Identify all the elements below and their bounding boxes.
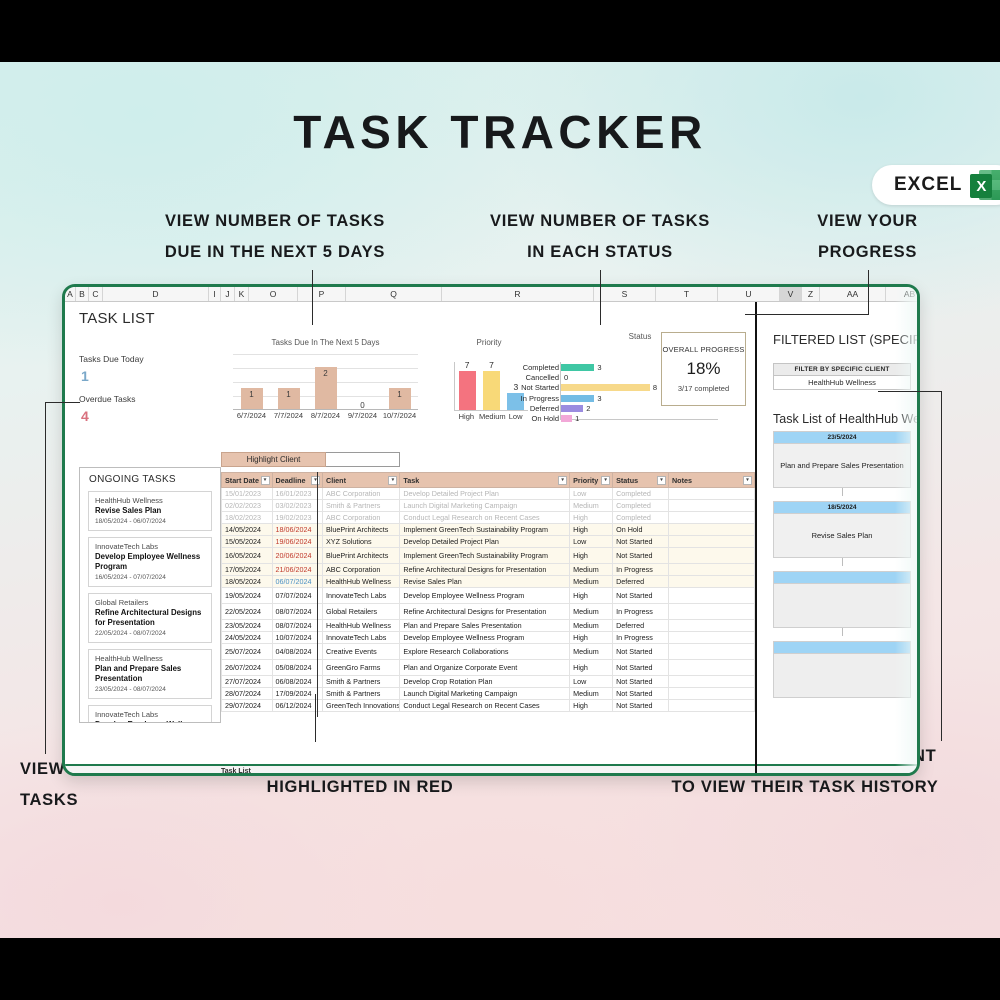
cell-priority[interactable]: Low: [570, 536, 613, 548]
leader-line-due: [312, 270, 313, 325]
excel-badge: EXCEL X: [872, 165, 1000, 205]
client-filter-label: FILTER BY SPECIFIC CLIENT: [773, 363, 911, 376]
cell-priority[interactable]: Low: [570, 676, 613, 688]
due-chart-bar: 2: [315, 367, 337, 410]
cell-client[interactable]: HealthHub Wellness: [323, 620, 400, 632]
cell-priority[interactable]: Medium: [570, 576, 613, 588]
status-bar: [561, 395, 594, 402]
due-chart-xlabel: 8/7/2024: [307, 411, 344, 424]
status-bar-value: 1: [575, 414, 579, 423]
table-row[interactable]: 16/05/202420/06/2024BluePrint Architects…: [222, 548, 755, 564]
cell-task[interactable]: Conduct Legal Research on Recent Cases: [400, 700, 570, 712]
priority-chart-title: Priority: [450, 338, 528, 347]
cell-priority[interactable]: High: [570, 524, 613, 536]
task-table-body: 15/01/202316/01/2023ABC CorporationDevel…: [222, 488, 755, 712]
overdue-tasks-value: 4: [81, 408, 89, 424]
due-chart-bar-value: 1: [241, 390, 263, 399]
tasks-due-today-label: Tasks Due Today: [79, 354, 144, 364]
cell-status[interactable]: Completed: [613, 512, 669, 524]
cell-priority[interactable]: High: [570, 660, 613, 676]
ongoing-task-client: HealthHub Wellness: [95, 496, 205, 505]
cell-status[interactable]: In Progress: [613, 604, 669, 620]
priority-xlabel: Medium: [479, 412, 503, 424]
filter-dropdown-icon[interactable]: ▾: [261, 476, 270, 485]
leader-line-progress-h: [745, 314, 869, 315]
table-row[interactable]: 15/05/202419/06/2024XYZ SolutionsDevelop…: [222, 536, 755, 548]
table-row[interactable]: 15/01/202316/01/2023ABC CorporationDevel…: [222, 488, 755, 500]
timeline-task: Plan and Prepare Sales Presentation: [773, 444, 911, 488]
column-header-Q[interactable]: Q: [346, 287, 442, 301]
column-header-V[interactable]: V: [780, 287, 802, 301]
cell-task[interactable]: Revise Sales Plan: [400, 576, 570, 588]
column-header-O[interactable]: O: [249, 287, 298, 301]
status-bar: [561, 405, 583, 412]
cell-client[interactable]: BluePrint Architects: [323, 548, 400, 564]
cell-deadline[interactable]: 19/06/2024: [272, 536, 323, 548]
table-row[interactable]: 19/05/202407/07/2024InnovateTech LabsDev…: [222, 588, 755, 604]
cell-client[interactable]: HealthHub Wellness: [323, 576, 400, 588]
timeline-task: [773, 654, 911, 698]
column-header-S[interactable]: S: [594, 287, 656, 301]
status-label: Deferred: [513, 404, 559, 413]
cell-notes[interactable]: [668, 524, 754, 536]
ongoing-task-card[interactable]: Global RetailersRefine Architectural Des…: [88, 593, 212, 643]
column-header-B[interactable]: B: [76, 287, 89, 301]
cell-task[interactable]: Implement GreenTech Sustainability Progr…: [400, 548, 570, 564]
timeline-card: [773, 571, 911, 628]
cell-notes[interactable]: [668, 620, 754, 632]
status-label: Cancelled: [513, 373, 559, 382]
column-freeze-line: [317, 472, 318, 717]
leader-line-ongoing-v: [45, 402, 46, 754]
cell-priority[interactable]: Medium: [570, 500, 613, 512]
table-row[interactable]: 02/02/202303/02/2023Smith & PartnersLaun…: [222, 500, 755, 512]
column-header-P[interactable]: P: [298, 287, 346, 301]
status-bar-value: 3: [597, 394, 601, 403]
ongoing-tasks-panel[interactable]: ONGOING TASKS HealthHub WellnessRevise S…: [79, 467, 221, 723]
cell-deadline[interactable]: 03/02/2023: [272, 500, 323, 512]
cell-deadline[interactable]: 20/06/2024: [272, 548, 323, 564]
cell-deadline[interactable]: 08/07/2024: [272, 604, 323, 620]
cell-priority[interactable]: High: [570, 632, 613, 644]
ongoing-task-client: Global Retailers: [95, 598, 205, 607]
due-chart-bars: 11201: [233, 352, 418, 410]
cell-status[interactable]: Completed: [613, 488, 669, 500]
cell-task[interactable]: Implement GreenTech Sustainability Progr…: [400, 524, 570, 536]
cell-task[interactable]: Refine Architectural Designs for Present…: [400, 564, 570, 576]
cell-task[interactable]: Launch Digital Marketing Campaign: [400, 500, 570, 512]
ongoing-task-name: Revise Sales Plan: [95, 506, 205, 516]
cell-deadline[interactable]: 19/02/2023: [272, 512, 323, 524]
due-chart-bar: 1: [278, 388, 300, 410]
ongoing-task-dates: 16/05/2024 - 07/07/2024: [95, 574, 205, 581]
priority-bar: 7: [483, 371, 500, 410]
table-row[interactable]: 18/02/202319/02/2023ABC CorporationCondu…: [222, 512, 755, 524]
cell-notes[interactable]: [668, 644, 754, 660]
column-header-AB[interactable]: AB: [886, 287, 920, 301]
client-filter-control[interactable]: FILTER BY SPECIFIC CLIENT HealthHub Well…: [773, 363, 911, 390]
table-row[interactable]: 24/05/202410/07/2024InnovateTech LabsDev…: [222, 632, 755, 644]
timeline-task: Revise Sales Plan: [773, 514, 911, 558]
cell-start-date[interactable]: 18/05/2024: [222, 576, 273, 588]
excel-logo-icon: X: [970, 168, 1000, 202]
priority-xlabel: High: [454, 412, 478, 424]
header-text: Priority: [573, 476, 598, 485]
due-chart-bar-value: 1: [278, 390, 300, 399]
column-header-AA[interactable]: AA: [820, 287, 886, 301]
ongoing-task-name: Refine Architectural Designs for Present…: [95, 608, 205, 628]
overall-progress-percent: 18%: [686, 359, 720, 379]
cell-priority[interactable]: Medium: [570, 688, 613, 700]
cell-client[interactable]: InnovateTech Labs: [323, 588, 400, 604]
cell-status[interactable]: Not Started: [613, 644, 669, 660]
cell-status[interactable]: Deferred: [613, 620, 669, 632]
due-chart-bar: 1: [389, 388, 411, 410]
cell-task[interactable]: Develop Detailed Project Plan: [400, 536, 570, 548]
cell-start-date[interactable]: 19/05/2024: [222, 588, 273, 604]
timeline-date: 18/5/2024: [773, 501, 911, 514]
header-text: Deadline: [276, 476, 306, 485]
ongoing-task-client: InnovateTech Labs: [95, 710, 205, 719]
task-table-header-deadline[interactable]: Deadline▾: [272, 473, 323, 488]
callout-status-count: VIEW NUMBER OF TASKS IN EACH STATUS: [415, 206, 785, 268]
table-row[interactable]: 28/07/202417/09/2024Smith & PartnersLaun…: [222, 688, 755, 700]
ongoing-task-dates: 23/05/2024 - 08/07/2024: [95, 686, 205, 693]
sheet-heading: TASK LIST: [79, 310, 155, 327]
tasks-due-bar-chart: 11201 6/7/20247/7/20248/7/20249/7/202410…: [233, 352, 418, 424]
column-header-U[interactable]: U: [718, 287, 780, 301]
task-table-header-notes[interactable]: Notes▾: [668, 473, 754, 488]
cell-task[interactable]: Launch Digital Marketing Campaign: [400, 688, 570, 700]
letterbox-top: [0, 0, 1000, 62]
cell-deadline[interactable]: 05/08/2024: [272, 660, 323, 676]
sheet-tab-bar[interactable]: Task List: [65, 764, 917, 776]
cell-task[interactable]: Explore Research Collaborations: [400, 644, 570, 660]
priority-bar-value: 7: [459, 360, 476, 370]
cell-priority[interactable]: Medium: [570, 604, 613, 620]
cell-task[interactable]: Develop Crop Rotation Plan: [400, 676, 570, 688]
table-row[interactable]: 25/07/202404/08/2024Creative EventsExplo…: [222, 644, 755, 660]
status-label: Completed: [513, 363, 559, 372]
cell-client[interactable]: Smith & Partners: [323, 688, 400, 700]
cell-start-date[interactable]: 18/02/2023: [222, 512, 273, 524]
callout-tasks-due: VIEW NUMBER OF TASKS DUE IN THE NEXT 5 D…: [100, 206, 450, 268]
cell-notes[interactable]: [668, 632, 754, 644]
cell-start-date[interactable]: 16/05/2024: [222, 548, 273, 564]
cell-deadline[interactable]: 08/07/2024: [272, 620, 323, 632]
status-bar-value: 2: [586, 404, 590, 413]
timeline-connector: [842, 488, 843, 496]
cell-task[interactable]: Develop Employee Wellness Program: [400, 632, 570, 644]
ongoing-task-dates: 22/05/2024 - 08/07/2024: [95, 630, 205, 637]
cell-start-date[interactable]: 14/05/2024: [222, 524, 273, 536]
table-row[interactable]: 22/05/202408/07/2024Global RetailersRefi…: [222, 604, 755, 620]
letterbox-bottom: [0, 938, 1000, 1000]
cell-notes[interactable]: [668, 536, 754, 548]
cell-start-date[interactable]: 22/05/2024: [222, 604, 273, 620]
cell-start-date[interactable]: 29/07/2024: [222, 700, 273, 712]
cell-priority[interactable]: High: [570, 512, 613, 524]
cell-status[interactable]: Deferred: [613, 576, 669, 588]
column-header-C[interactable]: C: [89, 287, 103, 301]
due-chart-xlabel: 6/7/2024: [233, 411, 270, 424]
table-row[interactable]: 17/05/202421/06/2024ABC CorporationRefin…: [222, 564, 755, 576]
due-chart-xlabel: 10/7/2024: [381, 411, 418, 424]
cell-deadline[interactable]: 16/01/2023: [272, 488, 323, 500]
header-text: Task: [403, 476, 419, 485]
cell-status[interactable]: In Progress: [613, 632, 669, 644]
callout-progress: VIEW YOUR PROGRESS: [735, 206, 1000, 268]
ongoing-tasks-title: ONGOING TASKS: [80, 468, 220, 491]
cell-priority[interactable]: Low: [570, 488, 613, 500]
table-row[interactable]: 18/05/202406/07/2024HealthHub WellnessRe…: [222, 576, 755, 588]
table-row[interactable]: 14/05/202418/06/2024BluePrint Architects…: [222, 524, 755, 536]
overall-progress-sub: 3/17 completed: [678, 384, 729, 393]
cell-task[interactable]: Develop Detailed Project Plan: [400, 488, 570, 500]
due-chart-xlabel: 7/7/2024: [270, 411, 307, 424]
timeline-card: [773, 641, 911, 698]
priority-bar: 7: [459, 371, 476, 410]
cell-task[interactable]: Conduct Legal Research on Recent Cases: [400, 512, 570, 524]
spreadsheet-canvas[interactable]: TASK LIST Tasks Due Today 1 Overdue Task…: [65, 302, 917, 776]
overdue-tasks-label: Overdue Tasks: [79, 394, 136, 404]
status-label: On Hold: [513, 414, 559, 423]
table-row[interactable]: 23/05/202408/07/2024HealthHub WellnessPl…: [222, 620, 755, 632]
column-header-J[interactable]: J: [221, 287, 235, 301]
task-table-header-start-date[interactable]: Start Date▾: [222, 473, 273, 488]
ongoing-task-card[interactable]: HealthHub WellnessPlan and Prepare Sales…: [88, 649, 212, 699]
cell-start-date[interactable]: 02/02/2023: [222, 500, 273, 512]
cell-client[interactable]: GreenTech Innovations: [323, 700, 400, 712]
column-header-I[interactable]: I: [209, 287, 221, 301]
filter-dropdown-icon[interactable]: ▾: [743, 476, 752, 485]
cell-status[interactable]: Not Started: [613, 688, 669, 700]
status-bar-value: 8: [653, 383, 657, 392]
leader-line-progress: [868, 270, 869, 315]
cell-priority[interactable]: Medium: [570, 564, 613, 576]
status-label: Not Started: [513, 383, 559, 392]
cell-notes[interactable]: [668, 700, 754, 712]
cell-deadline[interactable]: 18/06/2024: [272, 524, 323, 536]
cell-start-date[interactable]: 27/07/2024: [222, 676, 273, 688]
excel-badge-label: EXCEL: [894, 174, 962, 196]
cell-notes[interactable]: [668, 564, 754, 576]
status-bar-value: 0: [564, 373, 568, 382]
status-bar: [561, 384, 650, 391]
timeline-task: [773, 584, 911, 628]
cell-client[interactable]: ABC Corporation: [323, 488, 400, 500]
tasks-due-today-value: 1: [81, 368, 89, 384]
cell-start-date[interactable]: 23/05/2024: [222, 620, 273, 632]
ongoing-task-name: Develop Employee Wellness: [95, 720, 205, 723]
status-bar: [561, 364, 594, 371]
cell-status[interactable]: In Progress: [613, 564, 669, 576]
cell-deadline[interactable]: 07/07/2024: [272, 588, 323, 604]
excel-logo-letter: X: [970, 174, 992, 198]
column-header-D[interactable]: D: [103, 287, 209, 301]
header-text: Client: [326, 476, 346, 485]
cell-status[interactable]: Completed: [613, 500, 669, 512]
column-header-A[interactable]: A: [65, 287, 76, 301]
due-chart-xlabel: 9/7/2024: [344, 411, 381, 424]
cell-start-date[interactable]: 24/05/2024: [222, 632, 273, 644]
timeline-card: 23/5/2024Plan and Prepare Sales Presenta…: [773, 431, 911, 488]
leader-line-status: [600, 270, 601, 325]
priority-bar-value: 7: [483, 360, 500, 370]
cell-deadline[interactable]: 04/08/2024: [272, 644, 323, 660]
filter-dropdown-icon[interactable]: ▾: [601, 476, 610, 485]
cell-start-date[interactable]: 25/07/2024: [222, 644, 273, 660]
due-chart-title: Tasks Due In The Next 5 Days: [233, 338, 418, 347]
cell-start-date[interactable]: 15/05/2024: [222, 536, 273, 548]
due-chart-bar: 1: [241, 388, 263, 410]
cell-task[interactable]: Refine Architectural Designs for Present…: [400, 604, 570, 620]
ongoing-task-dates: 18/05/2024 - 06/07/2024: [95, 518, 205, 525]
ongoing-tasks-list[interactable]: HealthHub WellnessRevise Sales Plan18/05…: [80, 491, 220, 723]
cell-client[interactable]: ABC Corporation: [323, 512, 400, 524]
leader-line-overdue: [315, 694, 316, 742]
leader-line-filter-v: [941, 391, 942, 741]
timeline-date: [773, 571, 911, 584]
cell-notes[interactable]: [668, 548, 754, 564]
table-row[interactable]: 29/07/202406/12/2024GreenTech Innovation…: [222, 700, 755, 712]
cell-priority[interactable]: High: [570, 548, 613, 564]
table-row[interactable]: 26/07/202405/08/2024GreenGro FarmsPlan a…: [222, 660, 755, 676]
header-text: Status: [616, 476, 638, 485]
timeline-connector: [842, 628, 843, 636]
timeline-date: [773, 641, 911, 654]
cell-priority[interactable]: High: [570, 588, 613, 604]
column-header-row[interactable]: ABCDIJKOPQRSTUVZAAABAC: [65, 287, 917, 302]
task-table-header-status[interactable]: Status▾: [613, 473, 669, 488]
cell-status[interactable]: Not Started: [613, 676, 669, 688]
column-header-K[interactable]: K: [235, 287, 249, 301]
status-bar-value: 3: [597, 363, 601, 372]
cell-notes[interactable]: [668, 488, 754, 500]
cell-notes[interactable]: [668, 660, 754, 676]
ongoing-task-name: Develop Employee Wellness Program: [95, 552, 205, 572]
cell-client[interactable]: BluePrint Architects: [323, 524, 400, 536]
cell-client[interactable]: Smith & Partners: [323, 676, 400, 688]
cell-task[interactable]: Develop Employee Wellness Program: [400, 588, 570, 604]
filter-dropdown-icon[interactable]: ▾: [388, 476, 397, 485]
cell-notes[interactable]: [668, 500, 754, 512]
cell-task[interactable]: Plan and Organize Corporate Event: [400, 660, 570, 676]
cell-start-date[interactable]: 15/01/2023: [222, 488, 273, 500]
cell-deadline[interactable]: 10/07/2024: [272, 632, 323, 644]
cell-priority[interactable]: Medium: [570, 644, 613, 660]
cell-status[interactable]: Not Started: [613, 588, 669, 604]
cell-client[interactable]: GreenGro Farms: [323, 660, 400, 676]
task-table-header-priority[interactable]: Priority▾: [570, 473, 613, 488]
task-table-header-client[interactable]: Client▾: [323, 473, 400, 488]
status-bar: [561, 415, 572, 422]
cell-deadline[interactable]: 06/08/2024: [272, 676, 323, 688]
client-timeline-list: 23/5/2024Plan and Prepare Sales Presenta…: [773, 431, 920, 698]
cell-status[interactable]: Not Started: [613, 536, 669, 548]
cell-task[interactable]: Plan and Prepare Sales Presentation: [400, 620, 570, 632]
cell-notes[interactable]: [668, 604, 754, 620]
filter-dropdown-icon[interactable]: ▾: [657, 476, 666, 485]
leader-line-filter-h: [878, 391, 942, 392]
leader-line-ongoing-h: [45, 402, 80, 403]
table-row[interactable]: 27/07/202406/08/2024Smith & PartnersDeve…: [222, 676, 755, 688]
cell-client[interactable]: Creative Events: [323, 644, 400, 660]
task-table[interactable]: Start Date▾Deadline▾Client▾Task▾Priority…: [221, 472, 755, 712]
cell-status[interactable]: On Hold: [613, 524, 669, 536]
header-text: Start Date: [225, 476, 259, 485]
cell-priority[interactable]: High: [570, 700, 613, 712]
filter-dropdown-icon[interactable]: ▾: [311, 476, 320, 485]
column-header-T[interactable]: T: [656, 287, 718, 301]
cell-notes[interactable]: [668, 676, 754, 688]
cell-client[interactable]: ABC Corporation: [323, 564, 400, 576]
ongoing-task-client: InnovateTech Labs: [95, 542, 205, 551]
cell-deadline[interactable]: 21/06/2024: [272, 564, 323, 576]
cell-start-date[interactable]: 28/07/2024: [222, 688, 273, 700]
client-filter-value[interactable]: HealthHub Wellness: [773, 376, 911, 390]
cell-status[interactable]: Not Started: [613, 548, 669, 564]
timeline-connector: [842, 558, 843, 566]
highlight-client-control[interactable]: Highlight Client: [221, 452, 400, 467]
highlight-client-label: Highlight Client: [221, 452, 326, 467]
due-chart-xlabels: 6/7/20247/7/20248/7/20249/7/202410/7/202…: [233, 411, 418, 424]
overall-progress-title: OVERALL PROGRESS: [662, 345, 744, 354]
ongoing-task-card[interactable]: InnovateTech LabsDevelop Employee Wellne…: [88, 705, 212, 723]
filter-dropdown-icon[interactable]: ▾: [558, 476, 567, 485]
filtered-list-title: FILTERED LIST (SPECIFIC: [773, 332, 920, 347]
header-text: Notes: [672, 476, 692, 485]
cell-client[interactable]: XYZ Solutions: [323, 536, 400, 548]
frozen-pane-split: [755, 302, 757, 776]
timeline-date: 23/5/2024: [773, 431, 911, 444]
column-header-R[interactable]: R: [442, 287, 594, 301]
cell-status[interactable]: Not Started: [613, 660, 669, 676]
spreadsheet-window[interactable]: ABCDIJKOPQRSTUVZAAABAC TASK LIST Tasks D…: [62, 284, 920, 776]
poster-stage: TASK TRACKER EXCEL X VIEW NUMBER OF TASK…: [0, 62, 1000, 938]
status-row: On Hold1: [561, 413, 718, 423]
highlight-client-input[interactable]: [326, 452, 400, 467]
ongoing-task-name: Plan and Prepare Sales Presentation: [95, 664, 205, 684]
sheet-tab-task-list[interactable]: Task List: [221, 768, 251, 775]
cell-notes[interactable]: [668, 576, 754, 588]
ongoing-task-card[interactable]: HealthHub WellnessRevise Sales Plan18/05…: [88, 491, 212, 531]
cell-notes[interactable]: [668, 688, 754, 700]
cell-priority[interactable]: Medium: [570, 620, 613, 632]
cell-client[interactable]: InnovateTech Labs: [323, 632, 400, 644]
overall-progress-card: OVERALL PROGRESS 18% 3/17 completed: [661, 332, 746, 406]
ongoing-task-card[interactable]: InnovateTech LabsDevelop Employee Wellne…: [88, 537, 212, 587]
page-title: TASK TRACKER: [0, 105, 1000, 159]
client-timeline-title: Task List of HealthHub We: [773, 412, 920, 426]
cell-start-date[interactable]: 17/05/2024: [222, 564, 273, 576]
task-table-header-task[interactable]: Task▾: [400, 473, 570, 488]
cell-notes[interactable]: [668, 588, 754, 604]
cell-client[interactable]: Global Retailers: [323, 604, 400, 620]
status-label: In Progress: [513, 394, 559, 403]
due-chart-bar-value: 2: [315, 369, 337, 378]
cell-notes[interactable]: [668, 512, 754, 524]
filtered-list-panel[interactable]: FILTERED LIST (SPECIFIC FILTER BY SPECIF…: [773, 332, 920, 698]
timeline-card: 18/5/2024Revise Sales Plan: [773, 501, 911, 558]
cell-start-date[interactable]: 26/07/2024: [222, 660, 273, 676]
cell-client[interactable]: Smith & Partners: [323, 500, 400, 512]
cell-status[interactable]: Not Started: [613, 700, 669, 712]
task-table-header-row: Start Date▾Deadline▾Client▾Task▾Priority…: [222, 473, 755, 488]
due-chart-bar-value: 1: [389, 390, 411, 399]
cell-deadline[interactable]: 06/07/2024: [272, 576, 323, 588]
column-header-Z[interactable]: Z: [802, 287, 820, 301]
